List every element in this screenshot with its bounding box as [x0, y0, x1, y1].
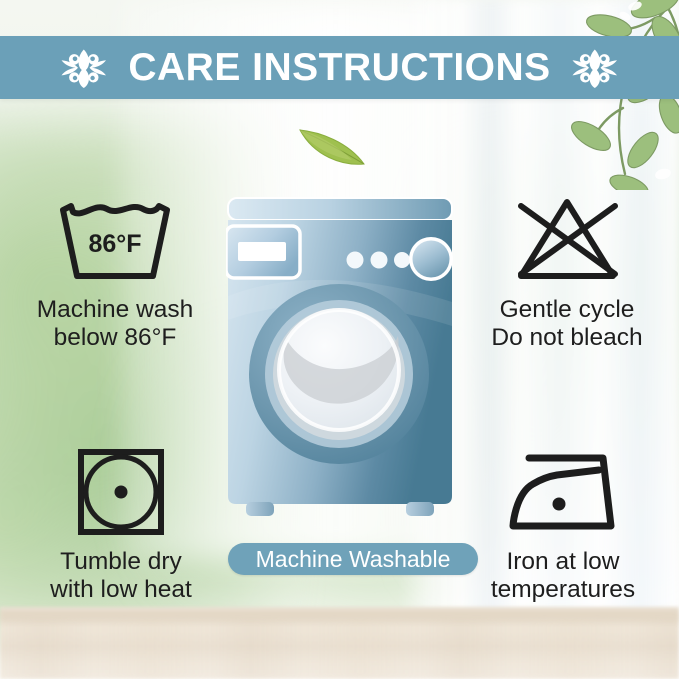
page-title: CARE INSTRUCTIONS: [128, 48, 550, 87]
background-wood-grain: [0, 619, 679, 679]
badge-label: Machine Washable: [256, 548, 451, 571]
background-wood-edge: [0, 607, 679, 621]
floating-leaf-icon: [296, 122, 368, 168]
washer-button-2[interactable]: [371, 252, 388, 269]
washer-button-3[interactable]: [394, 252, 410, 268]
fleur-de-lis-icon: [56, 46, 112, 90]
care-item-caption: Iron at low temperatures: [491, 548, 635, 605]
iron-low-icon: [499, 444, 627, 540]
machine-washable-badge: Machine Washable: [228, 543, 478, 575]
wash-tub-icon: 86°F: [51, 192, 179, 288]
fleur-de-lis-icon: [567, 46, 623, 90]
washing-machine-illustration: [226, 196, 454, 536]
care-instructions-graphic: CARE INSTRUCTIONS: [0, 0, 679, 679]
care-item-machine-wash: 86°F Machine wash below 86°F: [8, 192, 222, 353]
washer-foot-left: [246, 502, 274, 516]
care-item-tumble-dry: Tumble dry with low heat: [14, 444, 228, 605]
care-item-caption: Machine wash below 86°F: [37, 296, 194, 353]
washer-dial[interactable]: [413, 241, 450, 278]
wash-temperature-value: 86°F: [88, 230, 141, 258]
washer-display: [238, 242, 286, 261]
washer-top-lid: [228, 198, 452, 220]
care-item-caption: Gentle cycle Do not bleach: [491, 296, 642, 353]
symbol-slot: [503, 192, 631, 288]
symbol-slot: [73, 444, 169, 540]
washer-foot-right: [406, 502, 434, 516]
symbol-slot: 86°F: [51, 192, 179, 288]
care-item-gentle-cycle-no-bleach: Gentle cycle Do not bleach: [460, 192, 674, 353]
do-not-bleach-triangle-icon: [503, 192, 631, 288]
care-item-iron-low: Iron at low temperatures: [456, 444, 670, 605]
tumble-dry-low-icon: [73, 444, 169, 540]
symbol-slot: [499, 444, 627, 540]
header-banner: CARE INSTRUCTIONS: [0, 36, 679, 99]
care-item-caption: Tumble dry with low heat: [50, 548, 192, 605]
washer-button-1[interactable]: [347, 252, 364, 269]
